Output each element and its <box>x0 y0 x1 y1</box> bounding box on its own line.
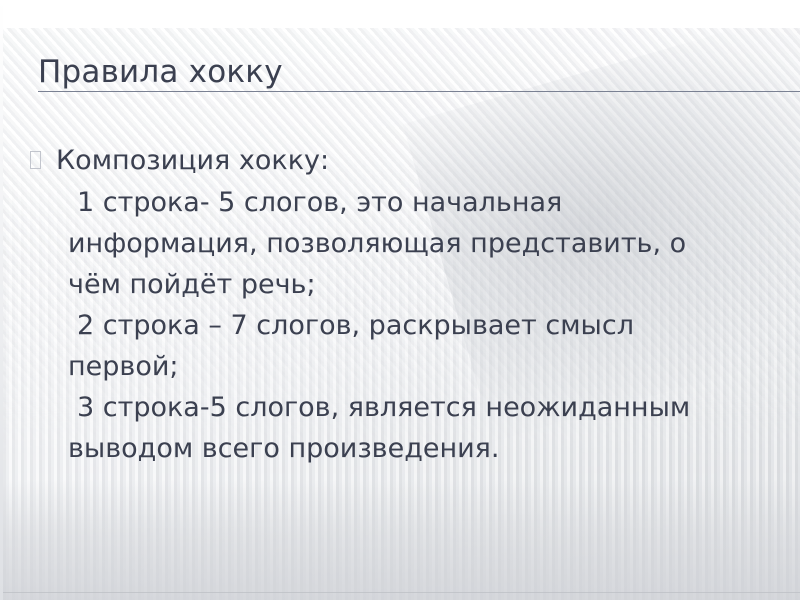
background-left-edge <box>0 0 3 600</box>
title-divider <box>38 91 800 92</box>
background-bottom-band <box>0 480 800 600</box>
slide-title-block: Правила хокку <box>38 54 768 90</box>
background-bottom-rule <box>0 592 800 593</box>
slide-body: Композиция хокку: 1 строка- 5 слогов, эт… <box>26 140 726 469</box>
body-paragraph-3: 3 строка-5 слогов, является неожиданным … <box>68 387 726 469</box>
slide-canvas: Правила хокку Композиция хокку: 1 строка… <box>0 0 800 600</box>
body-paragraph-2: 2 строка – 7 слогов, раскрывает смысл пе… <box>68 305 726 387</box>
body-paragraph-1: 1 строка- 5 слогов, это начальная информ… <box>68 182 726 305</box>
list-item-label: Композиция хокку: <box>56 140 726 181</box>
square-outline-bullet-icon <box>26 140 56 180</box>
list-item: Композиция хокку: <box>26 140 726 181</box>
background-top-white-band <box>0 0 800 28</box>
page-title: Правила хокку <box>38 54 768 90</box>
